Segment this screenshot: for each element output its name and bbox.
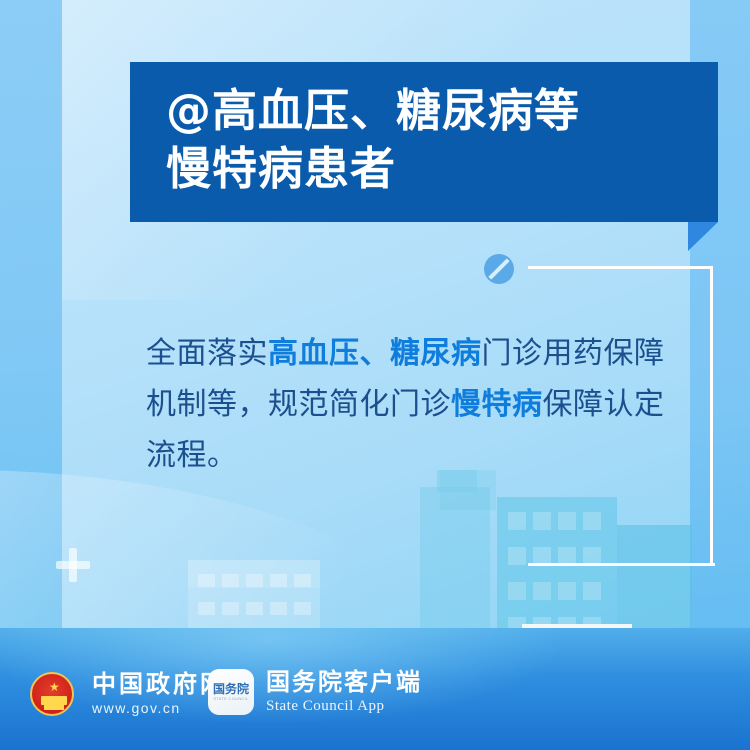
gov-brand-cn: 中国政府网 — [92, 670, 227, 698]
state-council-app-brand[interactable]: 国务院 STATE COUNCIL 国务院客户端 State Council A… — [208, 668, 422, 716]
bracket-line-foot — [620, 563, 715, 566]
body-highlight: 慢特病 — [451, 387, 543, 422]
building-window — [583, 582, 601, 600]
title-banner: @高血压、糖尿病等 慢特病患者 — [130, 62, 718, 222]
building-window-row — [508, 582, 601, 600]
poster-canvas: @高血压、糖尿病等 慢特病患者 全面落实高血压、糖尿病门诊用药保障机制等，规范简… — [0, 0, 750, 750]
building-window — [533, 582, 551, 600]
national-emblem-icon: ★ — [30, 672, 74, 716]
footer: ★ 中国政府网 www.gov.cn 国务院 STATE COUNCIL 国务院… — [0, 628, 750, 750]
emblem-star-icon: ★ — [49, 681, 60, 693]
body-text: 全面落实高血压、糖尿病门诊用药保障机制等，规范简化门诊慢特病保障认定流程。 — [146, 328, 666, 481]
body-segment: 全面落实 — [146, 336, 268, 371]
gov-brand-url: www.gov.cn — [92, 698, 227, 718]
app-icon-label-en: STATE COUNCIL — [213, 696, 248, 702]
emblem-gate-icon — [41, 696, 67, 705]
gov-brand[interactable]: ★ 中国政府网 www.gov.cn — [30, 670, 227, 718]
body-highlight: 高血压、糖尿病 — [268, 336, 482, 371]
building-window — [508, 582, 526, 600]
page-title: @高血压、糖尿病等 慢特病患者 — [166, 82, 696, 198]
building-window — [508, 547, 526, 565]
plus-icon — [56, 548, 90, 582]
building-window — [508, 512, 526, 530]
app-icon-label-cn: 国务院 — [213, 683, 249, 696]
pill-icon — [484, 254, 514, 284]
emblem-base-icon — [44, 705, 64, 710]
state-council-app-icon: 国务院 STATE COUNCIL — [208, 669, 254, 715]
app-name-cn: 国务院客户端 — [266, 668, 422, 696]
gov-brand-text: 中国政府网 www.gov.cn — [92, 670, 227, 718]
banner-ribbon-tail-icon — [688, 222, 718, 251]
building-window — [558, 582, 576, 600]
app-name-en: State Council App — [266, 696, 422, 716]
state-council-app-text: 国务院客户端 State Council App — [266, 668, 422, 716]
